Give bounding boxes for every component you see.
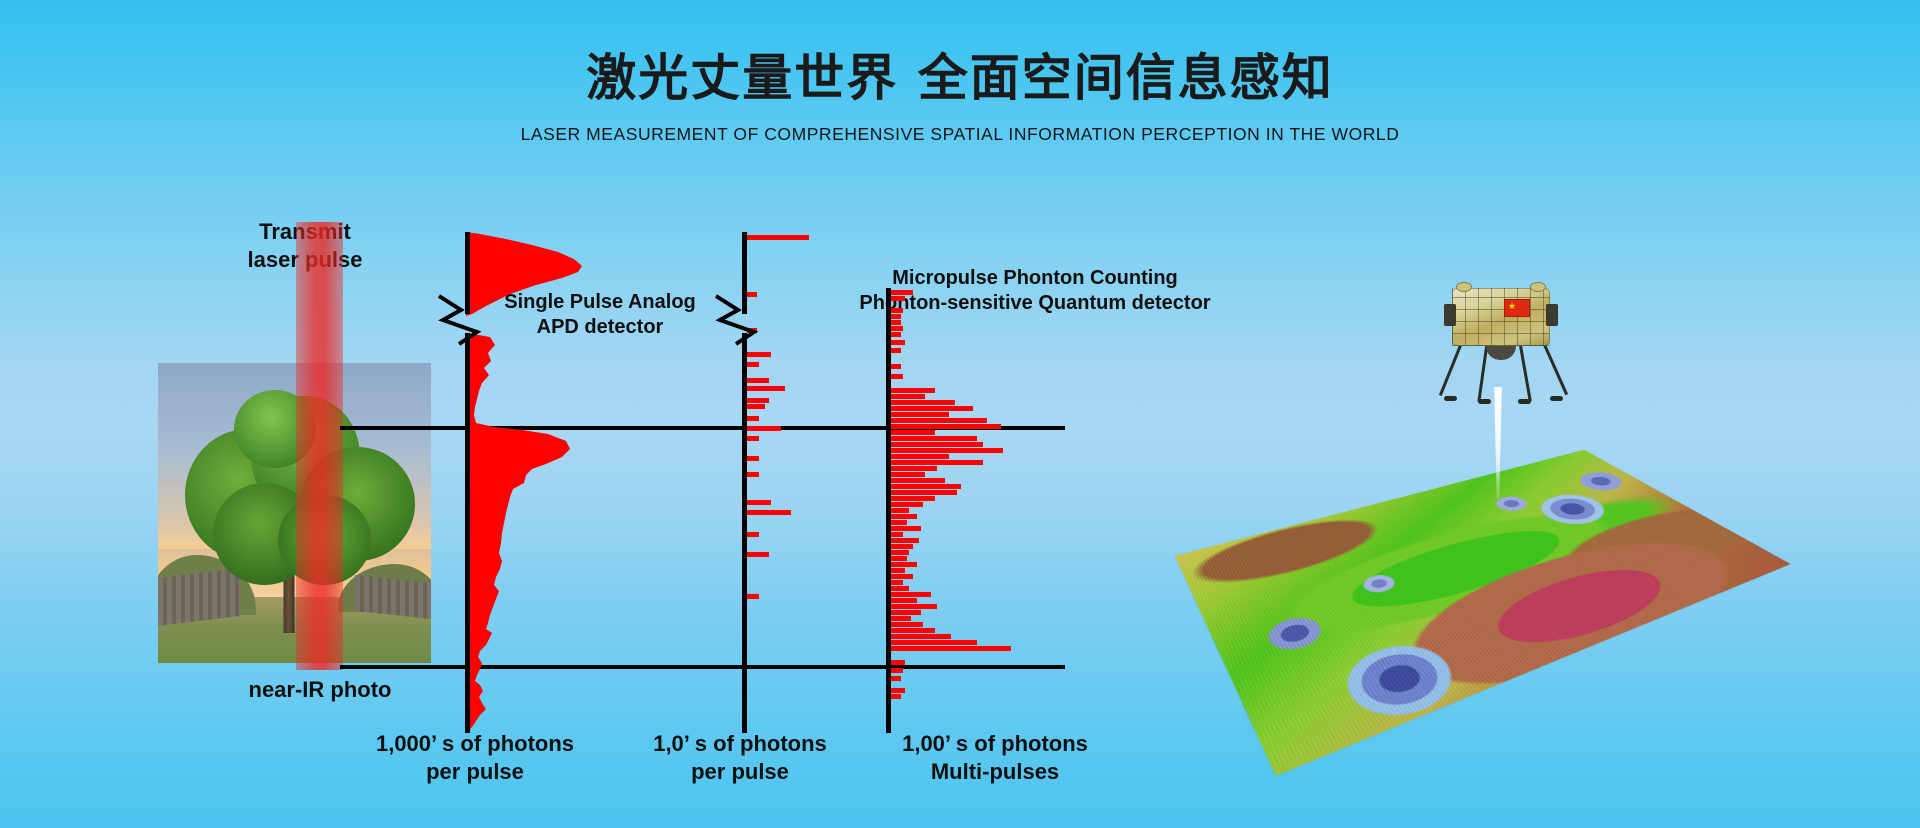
lander-foot [1518,399,1531,404]
waveform-bar [891,290,913,295]
waveform-bar [891,532,903,537]
axis-low-photon [742,333,747,733]
waveform-bar [891,296,905,301]
lander-leg [1540,337,1568,395]
waveform-bar [747,386,785,391]
waveform-bar [891,496,935,501]
lander-panel-grid [1452,288,1550,346]
photo-stone-wall-left [158,568,240,626]
caption-line1: 1,000’ s of photons [350,730,600,758]
waveform-bar [891,580,903,585]
waveform-bar [891,332,901,337]
column-caption-low-photon: 1,0’ s of photons per pulse [625,730,855,785]
lidar-waveform-diagram: Transmit laser pulse [0,0,1150,828]
waveform-bar [891,508,909,513]
caption-line2: per pulse [625,758,855,786]
column-caption-analog-apd: 1,000’ s of photons per pulse [350,730,600,785]
waveform-bar [747,532,759,537]
waveform-bar [747,594,759,599]
waveform-bar [891,616,911,621]
waveform-bar [891,490,957,495]
waveform-bar [747,362,759,367]
waveform-return-analog-apd [466,333,636,733]
waveform-bar [891,348,901,353]
waveform-bar [747,378,769,383]
waveform-bar [747,398,769,403]
waveform-bar [891,550,909,555]
lander-antenna-dish [1456,282,1472,292]
waveform-bar [891,568,905,573]
waveform-bar [747,472,759,477]
waveform-bar [891,668,903,673]
axis-analog-apd [465,333,470,733]
terrain-dem-surface [1175,450,1791,776]
lander-instrument-box [1444,304,1456,326]
waveform-bar [747,456,759,461]
waveform-bar [891,436,977,441]
waveform-bar [891,634,951,639]
flag-star-icon: ★ [1508,302,1516,311]
waveform-bar [891,412,949,417]
waveform-bar [891,418,987,423]
waveform-bar [747,510,791,515]
waveform-bar [891,478,945,483]
waveform-bar [891,514,917,519]
column-caption-micropulse: 1,00’ s of photons Multi-pulses [870,730,1120,785]
lander-leg [1439,337,1465,396]
waveform-bar [891,484,961,489]
waveform-bar [891,454,949,459]
waveform-bar [891,326,903,331]
axis-break-zigzag-analog [437,292,497,348]
waveform-bar [891,340,905,345]
waveform-bar [891,586,909,591]
waveform-bar [747,436,759,441]
waveform-bar [891,448,1003,453]
near-ir-photo [158,363,431,663]
waveform-bar [891,320,901,325]
axis-break-zigzag-low-photon [714,292,774,348]
waveform-bar [891,472,925,477]
waveform-bar [891,394,925,399]
lander-foot [1444,396,1457,401]
axis-micropulse [886,288,891,733]
waveform-bar [891,308,903,313]
waveform-bar [891,574,913,579]
waveform-bar [747,500,771,505]
waveform-bar [891,406,973,411]
waveform-bar [891,430,935,435]
waveform-bar [891,520,907,525]
waveform-bar [891,400,955,405]
waveform-micropulse-bars [891,288,1071,738]
lander-foot [1478,399,1491,404]
waveform-bar [891,688,905,693]
waveform-bar [891,646,1011,651]
waveform-bar [891,442,983,447]
waveform-bar [891,694,901,699]
waveform-bar [747,352,771,357]
waveform-bar [891,622,923,627]
waveform-bar [891,660,905,665]
lander-instrument-box [1546,304,1558,326]
lander-foot [1550,396,1563,401]
waveform-bar [891,502,923,507]
waveform-bar [891,610,921,615]
waveform-bar [891,526,921,531]
waveform-bar [891,640,977,645]
caption-line2: Multi-pulses [870,758,1120,786]
photo-image [158,363,431,663]
waveform-bar [891,544,913,549]
waveform-bar [891,424,1001,429]
waveform-bar [747,235,809,240]
waveform-bar [891,466,937,471]
waveform-bar [891,364,901,369]
terrain-scanline-texture [1175,450,1791,776]
waveform-bar [891,628,935,633]
waveform-bar [891,460,983,465]
waveform-bar [891,538,919,543]
waveform-bar [891,388,935,393]
poster-canvas: 激光丈量世界 全面空间信息感知 LASER MEASUREMENT OF COM… [0,0,1920,828]
waveform-bar [891,604,937,609]
waveform-bar [891,598,917,603]
lander-leg [1518,340,1532,402]
laser-beam-column [296,222,343,670]
lander-antenna-dish [1530,282,1546,292]
waveform-bar [747,426,781,431]
waveform-bar [891,374,903,379]
lunar-terrain-scene: ★ [1190,275,1830,755]
waveform-bar [891,556,907,561]
near-ir-photo-caption: near-IR photo [200,676,440,704]
lander-body: ★ [1452,288,1550,346]
waveform-bar [891,592,931,597]
waveform-bar [891,314,901,319]
waveform-bar [747,552,769,557]
caption-line2: per pulse [350,758,600,786]
china-flag-icon: ★ [1504,299,1530,317]
waveform-bar [747,404,765,409]
waveform-bar [747,416,759,421]
waveform-bar [891,562,917,567]
waveform-bar [891,676,901,681]
lunar-lander: ★ [1426,280,1576,410]
